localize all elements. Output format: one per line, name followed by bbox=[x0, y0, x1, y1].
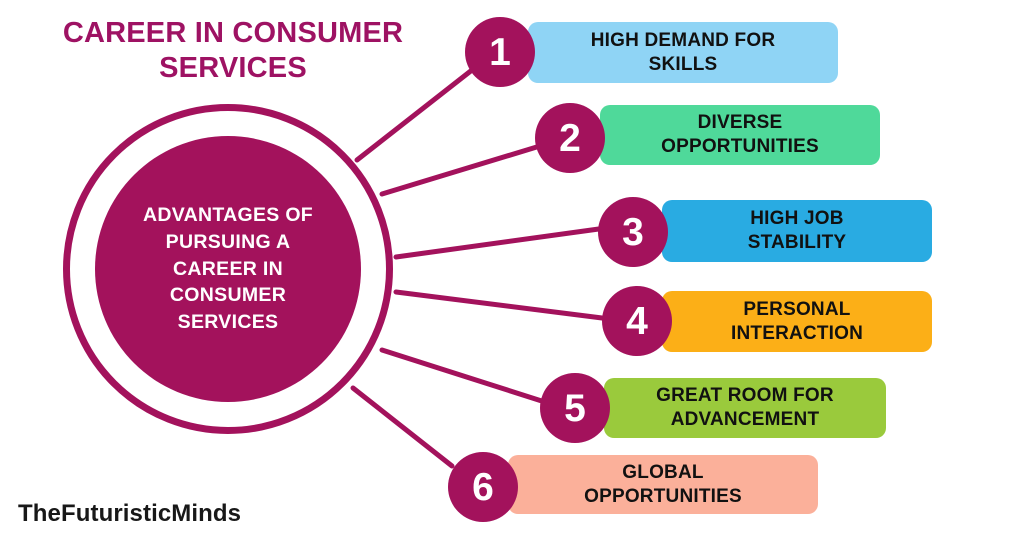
hub-label: ADVANTAGES OF PURSUING A CAREER IN CONSU… bbox=[116, 202, 341, 337]
advantage-label-2: DIVERSE OPPORTUNITIES bbox=[651, 111, 829, 159]
hub-circle: ADVANTAGES OF PURSUING A CAREER IN CONSU… bbox=[95, 136, 361, 402]
watermark: TheFuturisticMinds bbox=[18, 500, 241, 528]
advantage-bar-2[interactable]: DIVERSE OPPORTUNITIES bbox=[600, 105, 880, 165]
connector-line-2 bbox=[382, 146, 540, 194]
connector-line-5 bbox=[382, 350, 548, 403]
advantage-label-1: HIGH DEMAND FOR SKILLS bbox=[581, 29, 786, 77]
advantage-bar-5[interactable]: GREAT ROOM FOR ADVANCEMENT bbox=[604, 378, 886, 438]
advantage-label-3: HIGH JOB STABILITY bbox=[738, 207, 857, 255]
advantage-number-badge-2[interactable]: 2 bbox=[535, 103, 605, 173]
advantage-number-badge-6[interactable]: 6 bbox=[448, 452, 518, 522]
advantage-bar-4[interactable]: PERSONAL INTERACTION bbox=[662, 291, 932, 352]
advantage-number-badge-5[interactable]: 5 bbox=[540, 373, 610, 443]
page-title: CAREER IN CONSUMER SERVICES bbox=[28, 16, 438, 87]
advantage-bar-6[interactable]: GLOBAL OPPORTUNITIES bbox=[508, 455, 818, 514]
advantage-number-badge-3[interactable]: 3 bbox=[598, 197, 668, 267]
advantage-label-4: PERSONAL INTERACTION bbox=[721, 298, 873, 346]
connector-line-6 bbox=[353, 388, 452, 466]
advantage-label-5: GREAT ROOM FOR ADVANCEMENT bbox=[646, 384, 844, 432]
connector-line-4 bbox=[396, 292, 610, 319]
connector-line-3 bbox=[396, 228, 606, 257]
advantage-number-badge-1[interactable]: 1 bbox=[465, 17, 535, 87]
infographic-canvas: CAREER IN CONSUMER SERVICES ADVANTAGES O… bbox=[0, 0, 1024, 536]
advantage-number-badge-4[interactable]: 4 bbox=[602, 286, 672, 356]
advantage-label-6: GLOBAL OPPORTUNITIES bbox=[574, 461, 752, 509]
advantage-bar-3[interactable]: HIGH JOB STABILITY bbox=[662, 200, 932, 262]
advantage-bar-1[interactable]: HIGH DEMAND FOR SKILLS bbox=[528, 22, 838, 83]
